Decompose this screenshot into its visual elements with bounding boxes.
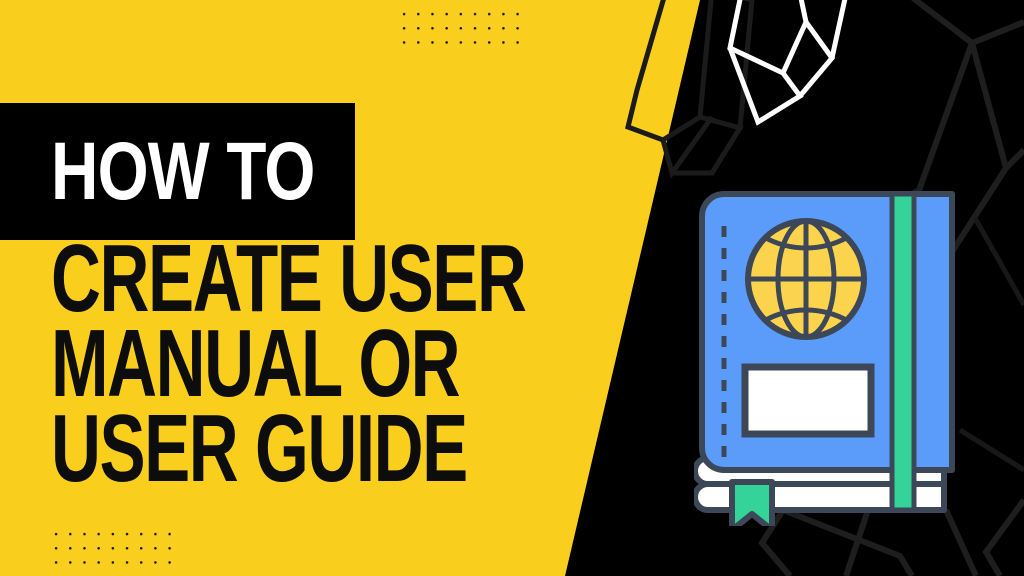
blank-label bbox=[745, 367, 871, 434]
page-title: CREATE USER MANUAL OR USER GUIDE bbox=[51, 237, 651, 492]
globe-icon bbox=[748, 221, 864, 337]
elastic-band bbox=[892, 194, 914, 510]
dot-grid-top bbox=[397, 7, 527, 55]
notebook-with-globe-illustration bbox=[694, 186, 964, 526]
dot-grid-bottom bbox=[49, 527, 179, 575]
bookmark-ribbon bbox=[732, 482, 772, 526]
eyebrow-label: HOW TO bbox=[51, 103, 294, 240]
poster-canvas: HOW TO CREATE USER MANUAL OR USER GUIDE bbox=[0, 0, 1024, 576]
headline-line-3: USER GUIDE bbox=[51, 407, 483, 492]
